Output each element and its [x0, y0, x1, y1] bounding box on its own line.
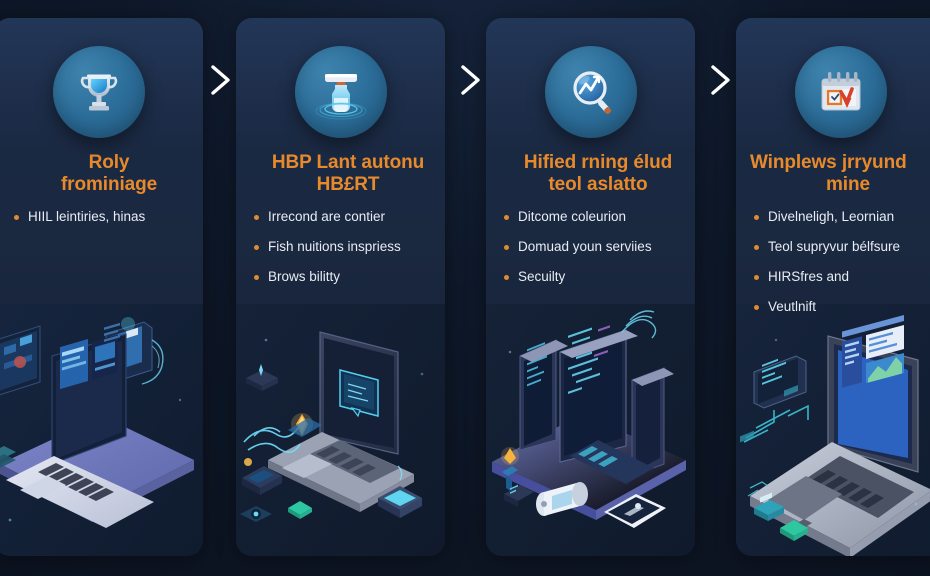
column-card-2[interactable]: HBP Lant autonu HB£RT Irrecond are conti…: [236, 18, 445, 556]
chevron-right-icon-1: [201, 58, 241, 102]
column-title-1: Roly frominiage: [14, 152, 203, 196]
illustration-2: [236, 304, 445, 556]
column-bullets-4: Divelneligh, Leornian Teol supryvur bélf…: [750, 210, 930, 314]
column-text-1: Roly frominiage HIIL leintiries, hinas: [14, 152, 203, 240]
illustration-3: [486, 304, 695, 556]
column-bullets-2: Irrecond are contier Fish nuitions inspr…: [250, 210, 445, 285]
column-title-4: Winplews jrryund mine: [750, 152, 930, 196]
column-title-3: Hified rning élud teol aslatto: [500, 152, 695, 196]
column-card-3[interactable]: Hified rning élud teol aslatto Ditcome c…: [486, 18, 695, 556]
column-text-4: Winplews jrryund mine Divelneligh, Leorn…: [750, 152, 930, 329]
list-item: Brows bilitty: [250, 270, 445, 285]
illustration-1: [0, 304, 203, 556]
magnifier-chart-icon: [545, 46, 637, 138]
list-item: Fish nuitions inspriess: [250, 240, 445, 255]
illustration-4: [736, 304, 930, 556]
list-item: HIIL leintiries, hinas: [14, 210, 203, 225]
column-bullets-1: HIIL leintiries, hinas: [14, 210, 203, 225]
list-item: Domuad youn serviies: [500, 240, 695, 255]
list-item: Secuilty: [500, 270, 695, 285]
column-title-2: HBP Lant autonu HB£RT: [250, 152, 445, 196]
column-card-1[interactable]: Roly frominiage HIIL leintiries, hinas: [0, 18, 203, 556]
list-item: Teol supryvur bélfsure: [750, 240, 930, 255]
column-bullets-3: Ditcome coleurion Domuad youn serviies S…: [500, 210, 695, 285]
list-item: Ditcome coleurion: [500, 210, 695, 225]
calendar-down-arrow-icon: [795, 46, 887, 138]
list-item: Irrecond are contier: [250, 210, 445, 225]
chevron-right-icon-3: [701, 58, 741, 102]
vial-bottle-icon: [295, 46, 387, 138]
column-text-2: HBP Lant autonu HB£RT Irrecond are conti…: [250, 152, 445, 300]
column-card-4[interactable]: Winplews jrryund mine Divelneligh, Leorn…: [736, 18, 930, 556]
trophy-icon: [53, 46, 145, 138]
column-text-3: Hified rning élud teol aslatto Ditcome c…: [500, 152, 695, 300]
list-item: Divelneligh, Leornian: [750, 210, 930, 225]
chevron-right-icon-2: [451, 58, 491, 102]
infographic-canvas: Roly frominiage HIIL leintiries, hinas: [0, 0, 930, 576]
list-item: HIRSfres and: [750, 270, 930, 285]
list-item: Veutlnift: [750, 300, 930, 315]
